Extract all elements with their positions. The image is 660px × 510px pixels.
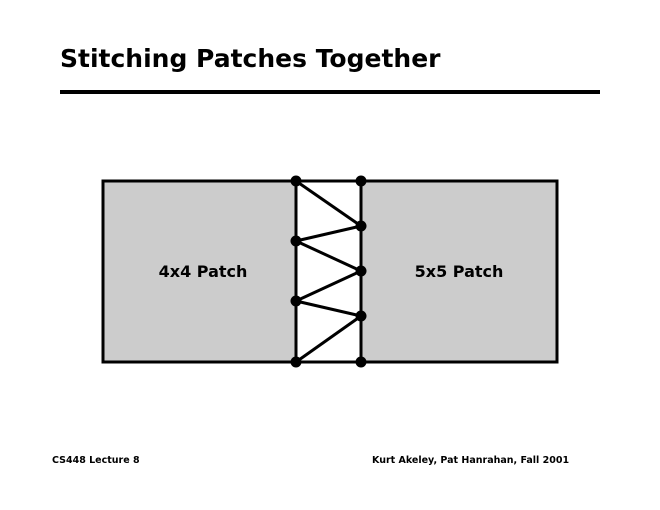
footer-authors-label: Kurt Akeley, Pat Hanrahan, Fall 2001 [372, 455, 569, 466]
stitching-diagram: 4x4 Patch 5x5 Patch [0, 0, 660, 510]
right-control-point [356, 357, 367, 368]
right-control-point [356, 266, 367, 277]
right-patch-group: 5x5 Patch [361, 181, 557, 362]
left-control-point [291, 296, 302, 307]
left-control-point [291, 176, 302, 187]
right-control-point [356, 311, 367, 322]
stitch-strip-background [296, 181, 361, 362]
left-patch-group: 4x4 Patch [103, 181, 296, 362]
right-control-point [356, 221, 367, 232]
slide: Stitching Patches Together 4x4 Patch 5x5… [0, 0, 660, 510]
left-control-point [291, 236, 302, 247]
left-patch-label: 4x4 Patch [159, 262, 248, 281]
right-control-point [356, 176, 367, 187]
left-control-point [291, 357, 302, 368]
stitch-strip-group [291, 176, 367, 368]
footer-lecture-label: CS448 Lecture 8 [52, 455, 140, 466]
right-patch-label: 5x5 Patch [415, 262, 504, 281]
